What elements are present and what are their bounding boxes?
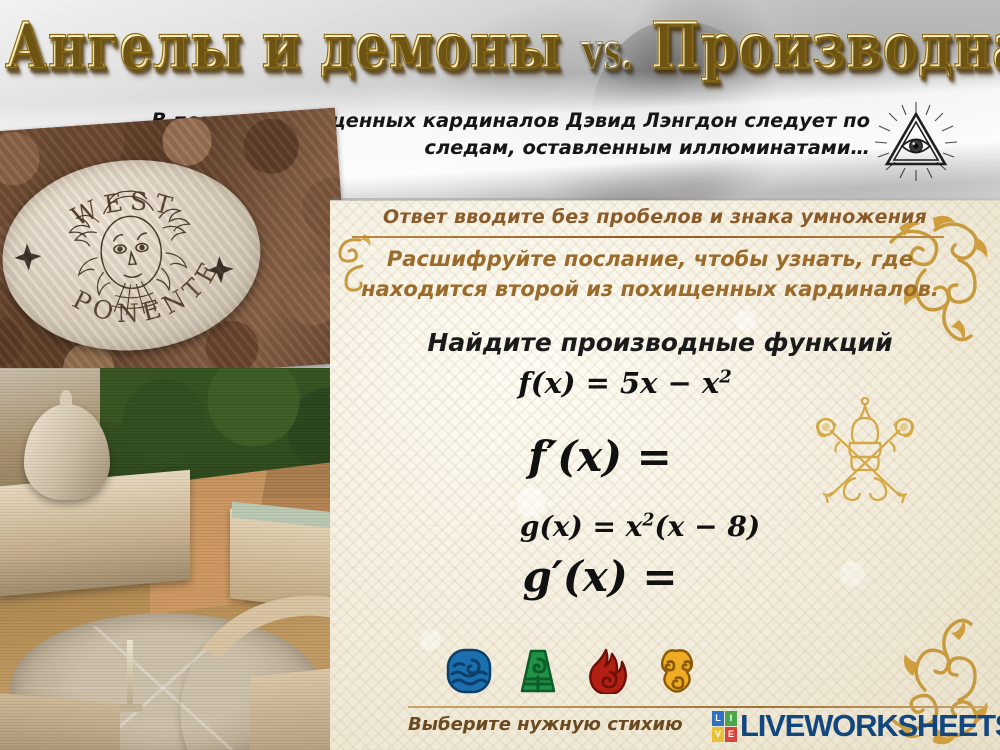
panel-seam xyxy=(330,198,1000,201)
equation-g-body-a: g(x) = x xyxy=(520,510,642,543)
title-vs: vs. xyxy=(580,18,632,80)
equation-f-body: f(x) = 5x − x xyxy=(518,366,719,400)
liveworksheets-logo[interactable]: L I V E LIVEWORKSHEETS xyxy=(712,706,1000,746)
logo-tile-v: V xyxy=(712,727,724,742)
west-ponente-relief: WEST PONENTE xyxy=(0,152,267,360)
instruction-divider xyxy=(352,236,944,238)
instruction-no-spaces: Ответ вводите без пробелов и знака умнож… xyxy=(355,206,955,228)
instruction-decode-message: Расшифруйте послание, чтобы узнать, где … xyxy=(352,244,948,305)
vatican-crossed-keys-icon xyxy=(800,392,930,517)
relief-top-text: WEST xyxy=(66,183,183,233)
liveworksheets-wordmark: LIVEWORKSHEETS xyxy=(740,708,1000,744)
element-water-icon[interactable] xyxy=(446,648,492,694)
element-air-icon[interactable] xyxy=(653,648,699,694)
page-title: Ангелы и демоны vs. Производная xyxy=(5,14,995,81)
equation-g-definition: g(x) = x2(x − 8) xyxy=(430,510,850,543)
equation-f-exponent: 2 xyxy=(719,366,732,387)
task-heading: Найдите производные функций xyxy=(400,328,920,357)
worksheet-poster: Ангелы и демоны vs. Производная В поиска… xyxy=(0,0,1000,750)
equation-g-exponent: 2 xyxy=(642,511,654,531)
equation-g-prime-answer[interactable]: g′(x) = xyxy=(430,552,770,601)
equation-f-prime-answer[interactable]: f′(x) = xyxy=(430,432,770,481)
relief-bottom-text: PONENTE xyxy=(64,251,230,333)
element-fire-icon[interactable] xyxy=(584,648,630,694)
element-choices xyxy=(446,643,706,699)
logo-tile-i: I xyxy=(725,711,737,726)
logo-tile-e: E xyxy=(725,727,737,742)
logo-tile-l: L xyxy=(712,711,724,726)
title-part-1: Ангелы и демоны xyxy=(5,9,561,83)
cobblestone-photo: WEST PONENTE xyxy=(0,108,352,387)
equation-g-body-b: (x − 8) xyxy=(654,510,760,543)
title-part-2: Производная xyxy=(651,9,1000,83)
all-seeing-eye-icon xyxy=(872,100,960,182)
element-earth-icon[interactable] xyxy=(515,648,561,694)
liveworksheets-tiles: L I V E xyxy=(712,711,737,742)
equation-f-definition: f(x) = 5x − x2 xyxy=(400,366,850,400)
